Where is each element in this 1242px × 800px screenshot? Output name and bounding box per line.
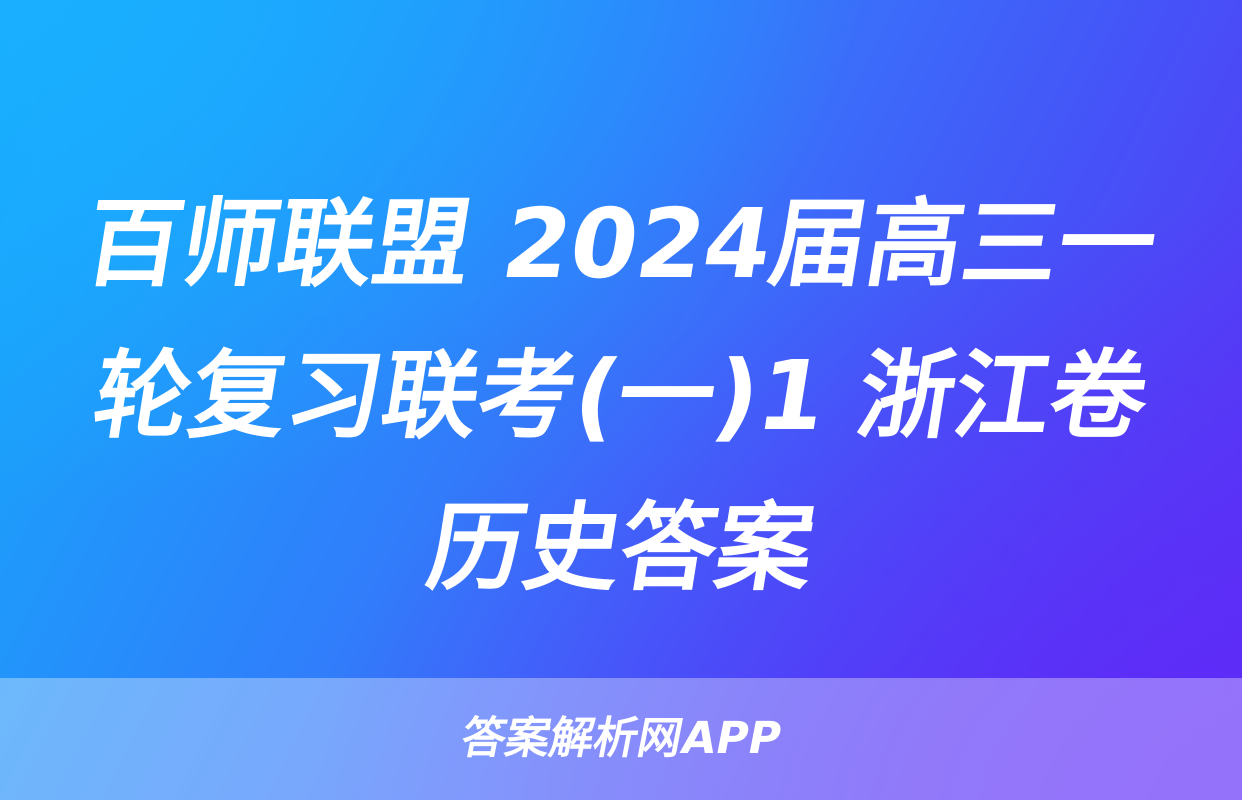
cover-title: 百师联盟 2024届高三一 轮复习联考(一)1 浙江卷 历史答案 [0,168,1242,624]
footer-watermark-text: 答案解析网APP [457,715,785,763]
title-line-2: 轮复习联考(一)1 浙江卷 [44,320,1198,472]
title-line-1: 百师联盟 2024届高三一 [44,168,1198,320]
footer-watermark-band: 答案解析网APP [0,678,1242,800]
cover-image: 百师联盟 2024届高三一 轮复习联考(一)1 浙江卷 历史答案 答案解析网AP… [0,0,1242,800]
title-line-3: 历史答案 [44,472,1198,624]
